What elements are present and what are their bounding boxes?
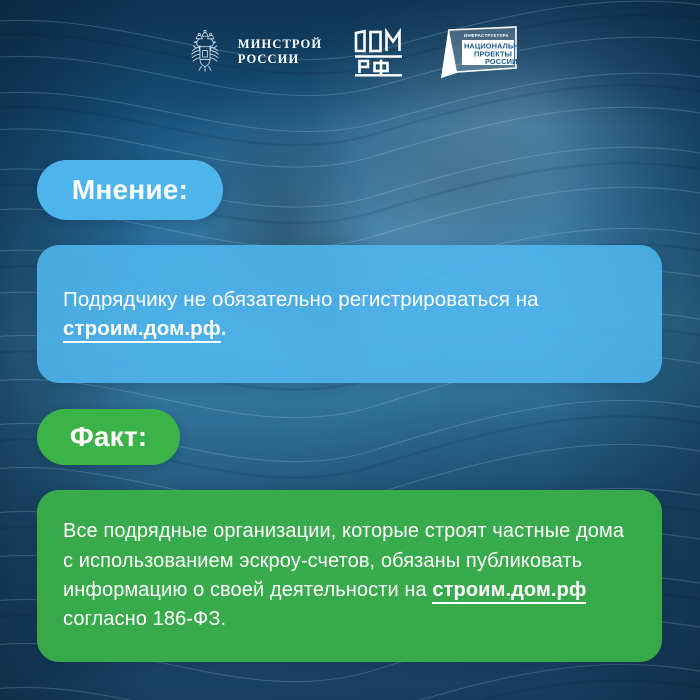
logo-strip: МИНСТРОЙ РОССИИ xyxy=(0,24,700,80)
national-projects-icon: ИНФРАСТРУКТУРА НАЦИОНАЛЬНЫЕ ПРОЕКТЫ РОСС… xyxy=(440,24,518,80)
opinion-text-before: Подрядчику не обязательно регистрировать… xyxy=(63,288,539,311)
infographic-canvas: МИНСТРОЙ РОССИИ xyxy=(0,0,700,700)
fact-badge: Факт: xyxy=(37,409,180,465)
minstroy-russia-label: МИНСТРОЙ РОССИИ xyxy=(238,37,322,68)
opinion-text-after: . xyxy=(221,317,227,340)
fact-card-text: Все подрядные организации, которые строя… xyxy=(37,517,662,635)
opinion-site-link[interactable]: строим.дом.рф xyxy=(63,317,221,343)
minstroy-russia-logo: МИНСТРОЙ РОССИИ xyxy=(182,29,322,75)
opinion-badge: Мнение: xyxy=(37,160,223,220)
svg-text:ИНФРАСТРУКТУРА: ИНФРАСТРУКТУРА xyxy=(464,33,509,38)
opinion-badge-label: Мнение: xyxy=(72,174,188,206)
dom-rf-logo xyxy=(352,27,410,77)
opinion-card-text: Подрядчику не обязательно регистрировать… xyxy=(37,285,662,343)
double-headed-eagle-icon xyxy=(182,29,228,75)
fact-text-after: согласно 186-ФЗ. xyxy=(63,608,226,630)
opinion-card: Подрядчику не обязательно регистрировать… xyxy=(37,245,662,383)
svg-text:РОССИИ: РОССИИ xyxy=(485,57,517,66)
fact-site-link[interactable]: строим.дом.рф xyxy=(432,579,586,604)
fact-badge-label: Факт: xyxy=(70,421,148,453)
fact-card: Все подрядные организации, которые строя… xyxy=(37,490,662,662)
national-projects-logo: ИНФРАСТРУКТУРА НАЦИОНАЛЬНЫЕ ПРОЕКТЫ РОСС… xyxy=(440,24,518,80)
dom-rf-icon xyxy=(352,27,410,77)
